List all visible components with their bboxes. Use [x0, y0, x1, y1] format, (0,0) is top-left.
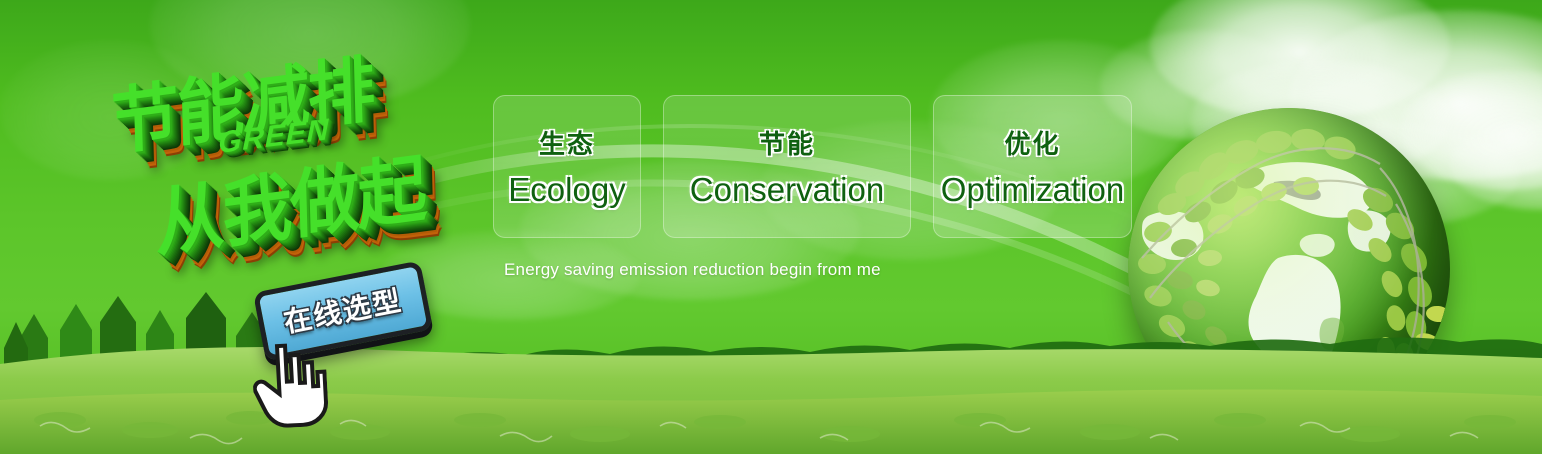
feature-card-title-cn: 优化	[1004, 124, 1060, 161]
meadow-ground	[0, 334, 1542, 454]
feature-card-title-en: Optimization	[941, 171, 1124, 209]
feature-card-title-cn: 节能	[759, 124, 815, 161]
feature-card-title-cn: 生态	[539, 124, 595, 161]
banner-tagline: Energy saving emission reduction begin f…	[504, 260, 881, 280]
headline-3d: 节能减排 GREEN 从我做起	[96, 34, 496, 274]
hand-pointer-icon	[251, 340, 329, 430]
feature-card-title-en: Ecology	[508, 171, 625, 209]
feature-card-list: 生态 Ecology 节能 Conservation 优化 Optimizati…	[493, 95, 1132, 238]
feature-card-conservation[interactable]: 节能 Conservation	[663, 95, 911, 238]
feature-card-optimization[interactable]: 优化 Optimization	[933, 95, 1132, 238]
feature-card-title-en: Conservation	[690, 171, 884, 209]
feature-card-ecology[interactable]: 生态 Ecology	[493, 95, 641, 238]
eco-promo-banner: 节能减排 GREEN 从我做起 在线选型 生态 Ecology 节能 Conse…	[0, 0, 1542, 454]
cta-button-label: 在线选型	[281, 285, 405, 338]
